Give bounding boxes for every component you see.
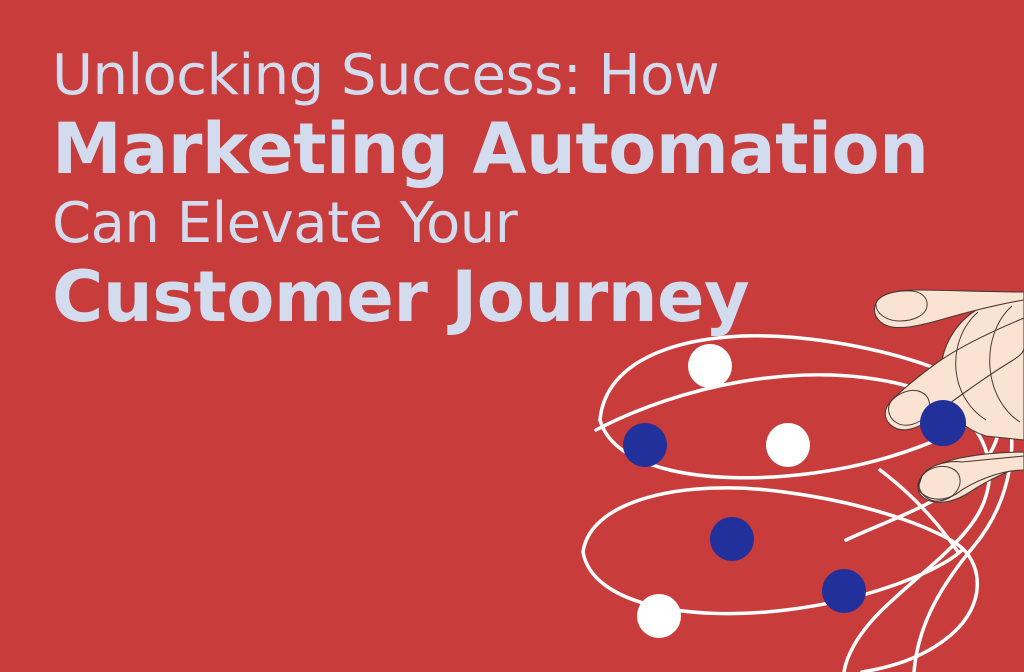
node-blue-lower-center	[710, 517, 754, 561]
headline-line-3: Can Elevate Your	[52, 196, 952, 252]
node-white-upper-right	[766, 423, 810, 467]
node-white-bottom-left	[637, 594, 681, 638]
node-blue-lower-right	[822, 569, 866, 613]
page-title: Unlocking Success: How Marketing Automat…	[52, 48, 952, 344]
headline-line-1: Unlocking Success: How	[52, 48, 952, 104]
poster-canvas: Unlocking Success: How Marketing Automat…	[0, 0, 1024, 672]
node-blue-upper-left	[623, 423, 667, 467]
headline-line-4: Customer Journey	[52, 262, 952, 332]
headline-line-2: Marketing Automation	[52, 114, 952, 184]
node-blue-pinched-overlay	[920, 400, 966, 446]
node-white-top	[688, 344, 732, 388]
